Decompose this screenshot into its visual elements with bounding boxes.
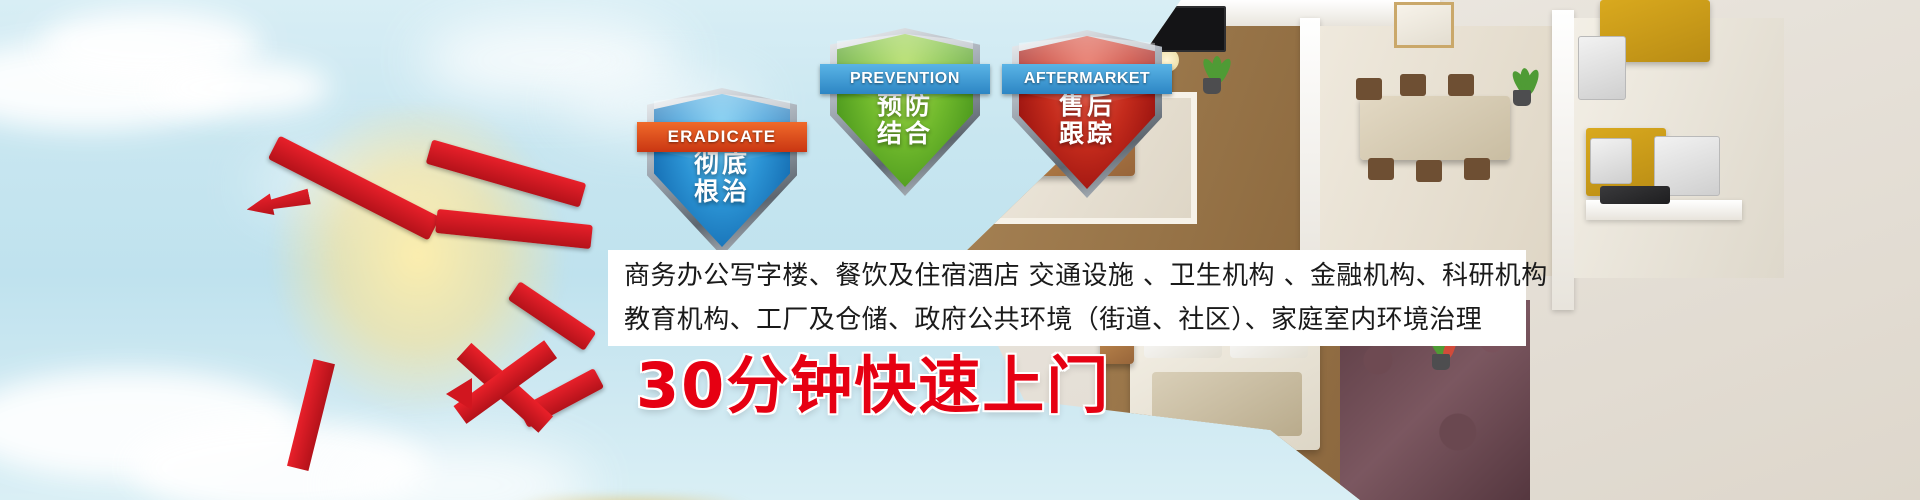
badge-chinese-line2: 根治: [647, 178, 797, 206]
badge-english-label: AFTERMARKET: [1024, 70, 1150, 88]
red-arrow-ribbon: [460, 330, 590, 460]
service-scope-panel: 商务办公写字楼、餐饮及住宿酒店 交通设施 、卫生机构 、金融机构、科研机构 教育…: [608, 250, 1526, 346]
service-scope-line-1: 商务办公写字楼、餐饮及住宿酒店 交通设施 、卫生机构 、金融机构、科研机构: [624, 254, 1510, 298]
badge-chinese-line2: 跟踪: [1012, 120, 1162, 148]
red-ribbon-tail-lower: [300, 360, 370, 480]
badge-prevention: 预防 结合 PREVENTION: [830, 28, 980, 196]
badge-chinese-text: 售后 跟踪: [1012, 92, 1162, 148]
badge-aftermarket: 售后 跟踪 AFTERMARKET: [1012, 30, 1162, 198]
badge-ribbon: PREVENTION: [820, 64, 990, 94]
headline-text: 30分钟快速上门: [636, 355, 1110, 417]
badge-english-label: ERADICATE: [668, 127, 777, 147]
arrow-head-icon: [446, 378, 472, 410]
badge-chinese-line1: 彻底: [647, 150, 797, 178]
badge-chinese-text: 预防 结合: [830, 92, 980, 148]
service-scope-line-2: 教育机构、工厂及仓储、政府公共环境（街道、社区）、家庭室内环境治理: [624, 298, 1510, 342]
badge-chinese-line1: 售后: [1012, 92, 1162, 120]
badge-chinese-text: 彻底 根治: [647, 150, 797, 206]
badge-eradicate: 彻底 根治 ERADICATE: [647, 88, 797, 256]
badge-chinese-line2: 结合: [830, 120, 980, 148]
gold-dust: [500, 495, 760, 500]
promo-banner: 3 彻底 根治 ERADICATE 预防 结合: [0, 0, 1920, 500]
badge-chinese-line1: 预防: [830, 92, 980, 120]
badge-ribbon: ERADICATE: [637, 122, 807, 152]
badge-english-label: PREVENTION: [850, 70, 960, 88]
badge-ribbon: AFTERMARKET: [1002, 64, 1172, 94]
